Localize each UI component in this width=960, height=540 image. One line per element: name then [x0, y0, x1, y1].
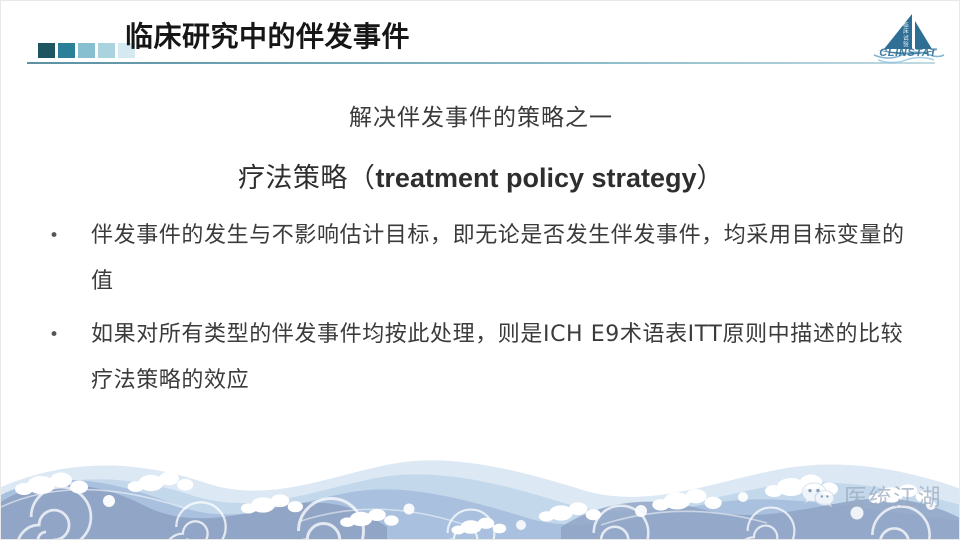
header-divider: [27, 62, 935, 64]
wechat-icon: [801, 481, 835, 509]
bullet-item-1: • 伴发事件的发生与不影响估计目标，即无论是否发生伴发事件，均采用目标变量的值: [49, 213, 919, 305]
strategy-cn-prefix: 疗法策略（: [238, 163, 376, 194]
page-title: 临床研究中的伴发事件: [125, 20, 410, 54]
bullet-marker-icon: •: [49, 312, 91, 358]
slide-canvas: 临床研究中的伴发事件 临 床 试 验 CLINSTAT 解决伴发事件的策略之一 …: [0, 0, 960, 540]
strategy-en-term: treatment policy strategy: [375, 163, 696, 193]
strategy-cn-suffix: ）: [697, 163, 725, 194]
bullet-marker-icon: •: [49, 213, 91, 259]
seigaiha-wave-footer: [1, 409, 960, 539]
logo-wordmark: CLINSTAT: [868, 47, 948, 59]
content-subtitle-strategy: 疗法策略（treatment policy strategy）: [1, 156, 960, 195]
title-square-2: [58, 43, 75, 58]
bullet-text-2: 如果对所有类型的伴发事件均按此处理，则是ICH E9术语表ITT原则中描述的比较…: [91, 312, 919, 404]
bullet-text-1: 伴发事件的发生与不影响估计目标，即无论是否发生伴发事件，均采用目标变量的值: [91, 213, 919, 305]
watermark-label: 医统江湖: [844, 478, 942, 512]
title-square-3: [78, 43, 95, 58]
wechat-watermark: 医统江湖: [801, 478, 942, 512]
bullet-item-2: • 如果对所有类型的伴发事件均按此处理，则是ICH E9术语表ITT原则中描述的…: [49, 312, 919, 404]
content-subtitle-primary: 解决伴发事件的策略之一: [1, 98, 960, 132]
clinstat-sailboat-logo: 临 床 试 验 CLINSTAT: [862, 9, 954, 67]
title-square-4: [98, 43, 115, 58]
slide-header: 临床研究中的伴发事件 临 床 试 验 CLINSTAT: [1, 1, 960, 73]
logo-sail-characters: 临 床 试 验: [895, 23, 917, 49]
title-square-1: [38, 43, 55, 58]
title-decor-squares: [38, 43, 135, 58]
